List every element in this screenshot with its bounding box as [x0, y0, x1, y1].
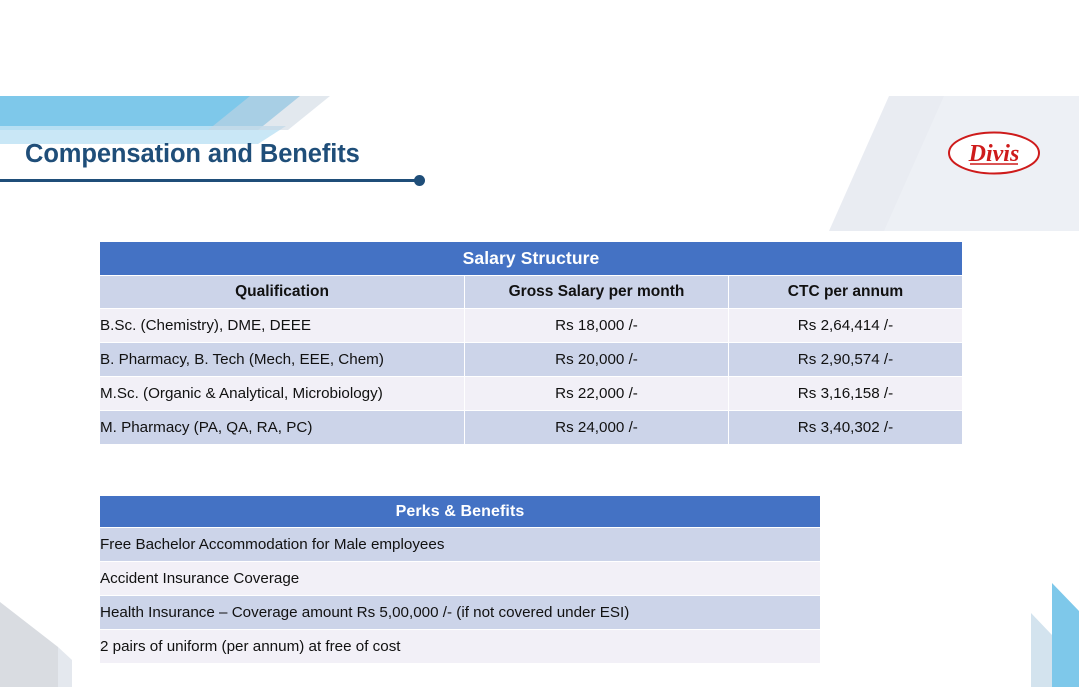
- salary-structure-table: Salary Structure Qualification Gross Sal…: [99, 241, 963, 445]
- cell-gross-salary: Rs 22,000 /-: [465, 377, 729, 411]
- salary-table-banner-row: Salary Structure: [100, 242, 963, 276]
- list-item: 2 pairs of uniform (per annum) at free o…: [100, 630, 821, 664]
- cell-ctc: Rs 2,90,574 /-: [729, 343, 963, 377]
- decor-bottom-left-wedge: [0, 592, 110, 687]
- column-header-ctc: CTC per annum: [729, 276, 963, 309]
- decor-top-left-bands: [0, 96, 350, 144]
- cell-gross-salary: Rs 18,000 /-: [465, 309, 729, 343]
- column-header-qualification: Qualification: [100, 276, 465, 309]
- page-title: Compensation and Benefits: [0, 140, 440, 168]
- list-item: Free Bachelor Accommodation for Male emp…: [100, 528, 821, 562]
- divis-logo-text: Divis: [968, 141, 1020, 167]
- title-underline-dot: [414, 175, 425, 186]
- cell-ctc: Rs 3,40,302 /-: [729, 411, 963, 445]
- cell-qualification: B. Pharmacy, B. Tech (Mech, EEE, Chem): [100, 343, 465, 377]
- table-row: M.Sc. (Organic & Analytical, Microbiolog…: [100, 377, 963, 411]
- perks-table-banner-row: Perks & Benefits: [100, 496, 821, 528]
- salary-table-banner: Salary Structure: [100, 242, 963, 276]
- cell-ctc: Rs 2,64,414 /-: [729, 309, 963, 343]
- perk-text: Free Bachelor Accommodation for Male emp…: [100, 528, 821, 562]
- cell-ctc: Rs 3,16,158 /-: [729, 377, 963, 411]
- slide: Compensation and Benefits Divis Salary S…: [0, 0, 1079, 687]
- table-row: B. Pharmacy, B. Tech (Mech, EEE, Chem) R…: [100, 343, 963, 377]
- cell-qualification: M. Pharmacy (PA, QA, RA, PC): [100, 411, 465, 445]
- title-underline-line: [0, 179, 418, 182]
- cell-gross-salary: Rs 20,000 /-: [465, 343, 729, 377]
- title-underline: [0, 175, 428, 187]
- divis-logo-icon: Divis: [946, 129, 1042, 177]
- cell-qualification: B.Sc. (Chemistry), DME, DEEE: [100, 309, 465, 343]
- decor-bottom-right-bands: [974, 557, 1079, 687]
- column-header-gross-salary: Gross Salary per month: [465, 276, 729, 309]
- cell-gross-salary: Rs 24,000 /-: [465, 411, 729, 445]
- perk-text: Accident Insurance Coverage: [100, 562, 821, 596]
- table-row: B.Sc. (Chemistry), DME, DEEE Rs 18,000 /…: [100, 309, 963, 343]
- perks-table-banner: Perks & Benefits: [100, 496, 821, 528]
- perk-text: 2 pairs of uniform (per annum) at free o…: [100, 630, 821, 664]
- cell-qualification: M.Sc. (Organic & Analytical, Microbiolog…: [100, 377, 465, 411]
- list-item: Health Insurance – Coverage amount Rs 5,…: [100, 596, 821, 630]
- title-block: Compensation and Benefits: [0, 140, 440, 187]
- table-row: M. Pharmacy (PA, QA, RA, PC) Rs 24,000 /…: [100, 411, 963, 445]
- list-item: Accident Insurance Coverage: [100, 562, 821, 596]
- salary-table-header-row: Qualification Gross Salary per month CTC…: [100, 276, 963, 309]
- perk-text: Health Insurance – Coverage amount Rs 5,…: [100, 596, 821, 630]
- perks-benefits-table: Perks & Benefits Free Bachelor Accommoda…: [99, 495, 821, 664]
